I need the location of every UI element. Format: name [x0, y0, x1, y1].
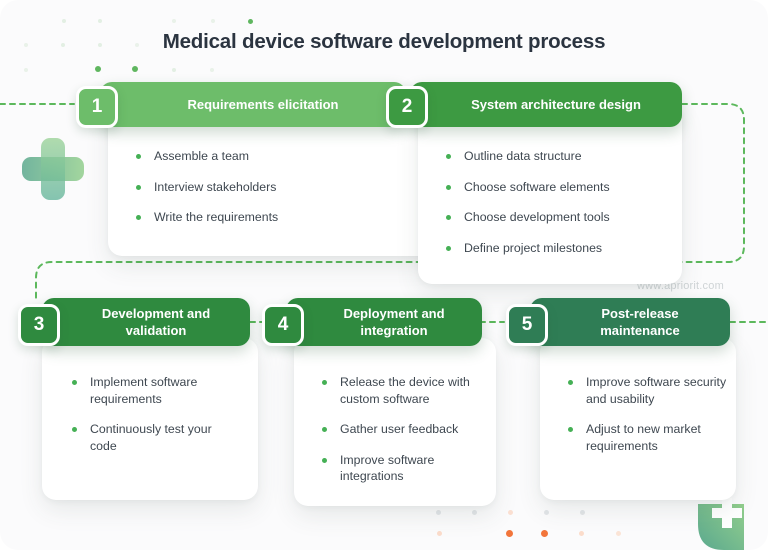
list-item: Choose development tools	[444, 209, 674, 226]
card-2-number: 2	[402, 96, 413, 118]
decorative-dot	[508, 510, 513, 515]
card-4-badge: 4	[262, 304, 304, 346]
list-item: Define project milestones	[444, 240, 674, 257]
decorative-dot	[248, 19, 253, 24]
list-item: Gather user feedback	[320, 421, 486, 438]
decorative-dot	[437, 531, 442, 536]
card-3-header[interactable]: Development and validation	[42, 298, 250, 346]
decorative-dot	[544, 510, 549, 515]
list-item: Continuously test your code	[70, 421, 240, 454]
decorative-dot	[436, 510, 441, 515]
card-4-header[interactable]: Deployment and integration	[286, 298, 482, 346]
decorative-dot	[62, 19, 66, 23]
card-4-number: 4	[278, 314, 289, 336]
card-2-header[interactable]: System architecture design	[410, 82, 682, 127]
decorative-dot	[211, 19, 215, 23]
decorative-dot	[506, 530, 513, 537]
list-item: Release the device with custom software	[320, 374, 486, 407]
list-item: Adjust to new market requirements	[566, 421, 734, 454]
list-item: Improve software integrations	[320, 452, 486, 485]
card-5-badge: 5	[506, 304, 548, 346]
card-1-number: 1	[92, 96, 103, 118]
decorative-dot	[472, 510, 477, 515]
card-5-list: Improve software security and usability …	[566, 374, 734, 468]
card-1-list: Assemble a team Interview stakeholders W…	[134, 148, 404, 240]
list-item: Outline data structure	[444, 148, 674, 165]
decorative-dot	[98, 19, 102, 23]
decorative-dot	[172, 19, 176, 23]
card-1-header[interactable]: Requirements elicitation	[100, 82, 406, 127]
card-3-badge: 3	[18, 304, 60, 346]
decorative-dot	[579, 531, 584, 536]
card-2-heading: System architecture design	[437, 96, 655, 113]
list-item: Interview stakeholders	[134, 179, 404, 196]
decorative-dot	[616, 531, 621, 536]
card-4-list: Release the device with custom software …	[320, 374, 486, 499]
card-4-heading: Deployment and integration	[286, 305, 482, 339]
card-1-heading: Requirements elicitation	[154, 96, 353, 113]
decorative-dot	[580, 510, 585, 515]
card-2-badge: 2	[386, 86, 428, 128]
infographic-canvas: Medical device software development proc…	[0, 0, 768, 550]
list-item: Assemble a team	[134, 148, 404, 165]
list-item: Choose software elements	[444, 179, 674, 196]
card-5-heading: Post-release maintenance	[530, 305, 730, 339]
decorative-dot	[172, 68, 176, 72]
list-item: Implement software requirements	[70, 374, 240, 407]
card-3-list: Implement software requirements Continuo…	[70, 374, 240, 468]
decorative-dot	[24, 68, 28, 72]
card-3-number: 3	[34, 314, 45, 336]
card-3-heading: Development and validation	[42, 305, 250, 339]
card-1-badge: 1	[76, 86, 118, 128]
card-5-header[interactable]: Post-release maintenance	[530, 298, 730, 346]
plus-decoration-left	[22, 138, 84, 200]
card-5-number: 5	[522, 314, 533, 336]
decorative-dot	[95, 66, 101, 72]
page-title: Medical device software development proc…	[0, 30, 768, 54]
list-item: Write the requirements	[134, 209, 404, 226]
decorative-dot	[210, 68, 214, 72]
plus-bar-vertical	[41, 138, 65, 200]
decorative-dot	[541, 530, 548, 537]
card-2-list: Outline data structure Choose software e…	[444, 148, 674, 270]
decorative-dot	[132, 66, 138, 72]
list-item: Improve software security and usability	[566, 374, 734, 407]
